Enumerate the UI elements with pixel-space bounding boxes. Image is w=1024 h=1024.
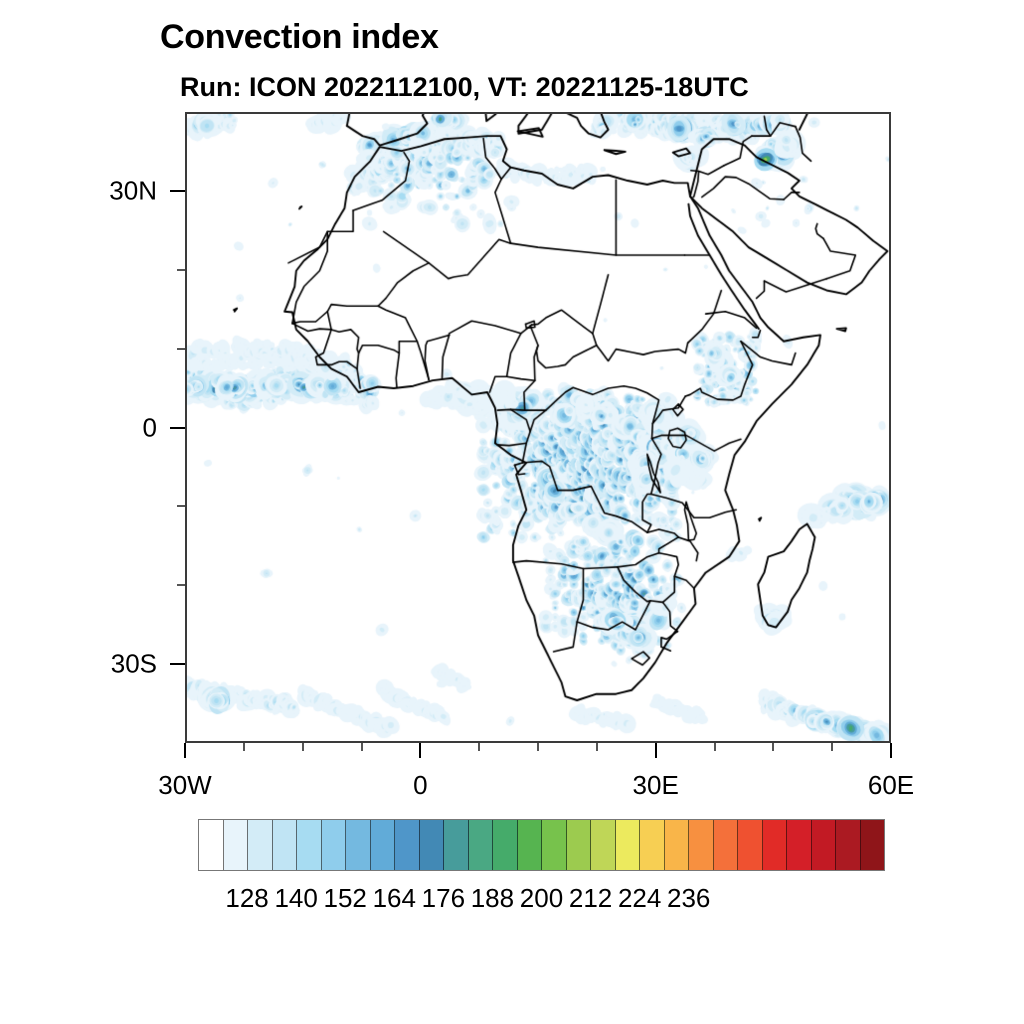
convection-index-raster [187, 114, 889, 741]
map-plot-area [185, 112, 891, 743]
y-axis-label-0: 0 [0, 412, 157, 443]
colorbar-cell-20 [689, 820, 714, 870]
colorbar-cell-26 [836, 820, 861, 870]
colorbar-label-152: 152 [324, 883, 367, 914]
colorbar-cell-24 [787, 820, 812, 870]
colorbar-cell-15 [567, 820, 592, 870]
colorbar-cell-13 [518, 820, 543, 870]
x-tick-minor-7 [596, 743, 598, 751]
colorbar-label-200: 200 [520, 883, 563, 914]
colorbar-label-224: 224 [618, 883, 661, 914]
colorbar-cell-22 [738, 820, 763, 870]
colorbar-label-188: 188 [471, 883, 514, 914]
x-tick-minor-2 [302, 743, 304, 751]
y-tick-minor-5 [177, 584, 185, 586]
x-tick-minor-11 [831, 743, 833, 751]
colorbar-label-176: 176 [422, 883, 465, 914]
y-axis-label-30N: 30N [0, 175, 157, 206]
y-tick-minor-4 [177, 505, 185, 507]
colorbar-cell-21 [714, 820, 739, 870]
colorbar-cell-25 [812, 820, 837, 870]
colorbar-label-212: 212 [569, 883, 612, 914]
colorbar-cell-9 [420, 820, 445, 870]
colorbar-cell-6 [346, 820, 371, 870]
x-axis-label-30E: 30E [633, 770, 679, 801]
y-tick-major-6 [170, 663, 185, 665]
colorbar-cell-8 [395, 820, 420, 870]
colorbar-cell-27 [861, 820, 885, 870]
x-tick-minor-5 [478, 743, 480, 751]
colorbar-label-164: 164 [373, 883, 416, 914]
colorbar-cell-4 [297, 820, 322, 870]
colorbar-label-128: 128 [225, 883, 268, 914]
colorbar-cell-10 [444, 820, 469, 870]
colorbar-label-236: 236 [667, 883, 710, 914]
y-axis-label-30S: 30S [0, 649, 157, 680]
x-tick-major-4 [419, 743, 421, 758]
y-tick-minor-1 [177, 269, 185, 271]
colorbar-label-140: 140 [274, 883, 317, 914]
colorbar-cell-17 [616, 820, 641, 870]
colorbar-cell-7 [371, 820, 396, 870]
x-tick-major-12 [890, 743, 892, 758]
x-tick-minor-3 [361, 743, 363, 751]
colorbar-cell-19 [665, 820, 690, 870]
x-tick-minor-10 [772, 743, 774, 751]
colorbar-cell-14 [542, 820, 567, 870]
colorbar-cell-5 [322, 820, 347, 870]
colorbar-cell-16 [591, 820, 616, 870]
colorbar [198, 819, 885, 871]
x-axis-label-0: 0 [413, 770, 427, 801]
x-tick-minor-6 [537, 743, 539, 751]
colorbar-cell-0 [199, 820, 224, 870]
y-tick-minor-2 [177, 348, 185, 350]
colorbar-cell-12 [493, 820, 518, 870]
y-tick-major-3 [170, 427, 185, 429]
colorbar-cell-3 [273, 820, 298, 870]
colorbar-cell-11 [469, 820, 494, 870]
x-axis-label-30W: 30W [158, 770, 211, 801]
x-tick-minor-9 [714, 743, 716, 751]
x-tick-major-8 [655, 743, 657, 758]
page-title: Convection index [160, 18, 439, 57]
colorbar-cell-23 [763, 820, 788, 870]
y-tick-major-0 [170, 190, 185, 192]
colorbar-cell-2 [248, 820, 273, 870]
colorbar-cell-18 [640, 820, 665, 870]
x-tick-minor-1 [243, 743, 245, 751]
colorbar-cells [198, 819, 885, 871]
x-tick-major-0 [184, 743, 186, 758]
run-valid-time-subtitle: Run: ICON 2022112100, VT: 20221125-18UTC [180, 72, 749, 103]
colorbar-cell-1 [224, 820, 249, 870]
convection-index-figure: Convection index Run: ICON 2022112100, V… [0, 0, 1024, 1024]
x-axis-label-60E: 60E [868, 770, 914, 801]
